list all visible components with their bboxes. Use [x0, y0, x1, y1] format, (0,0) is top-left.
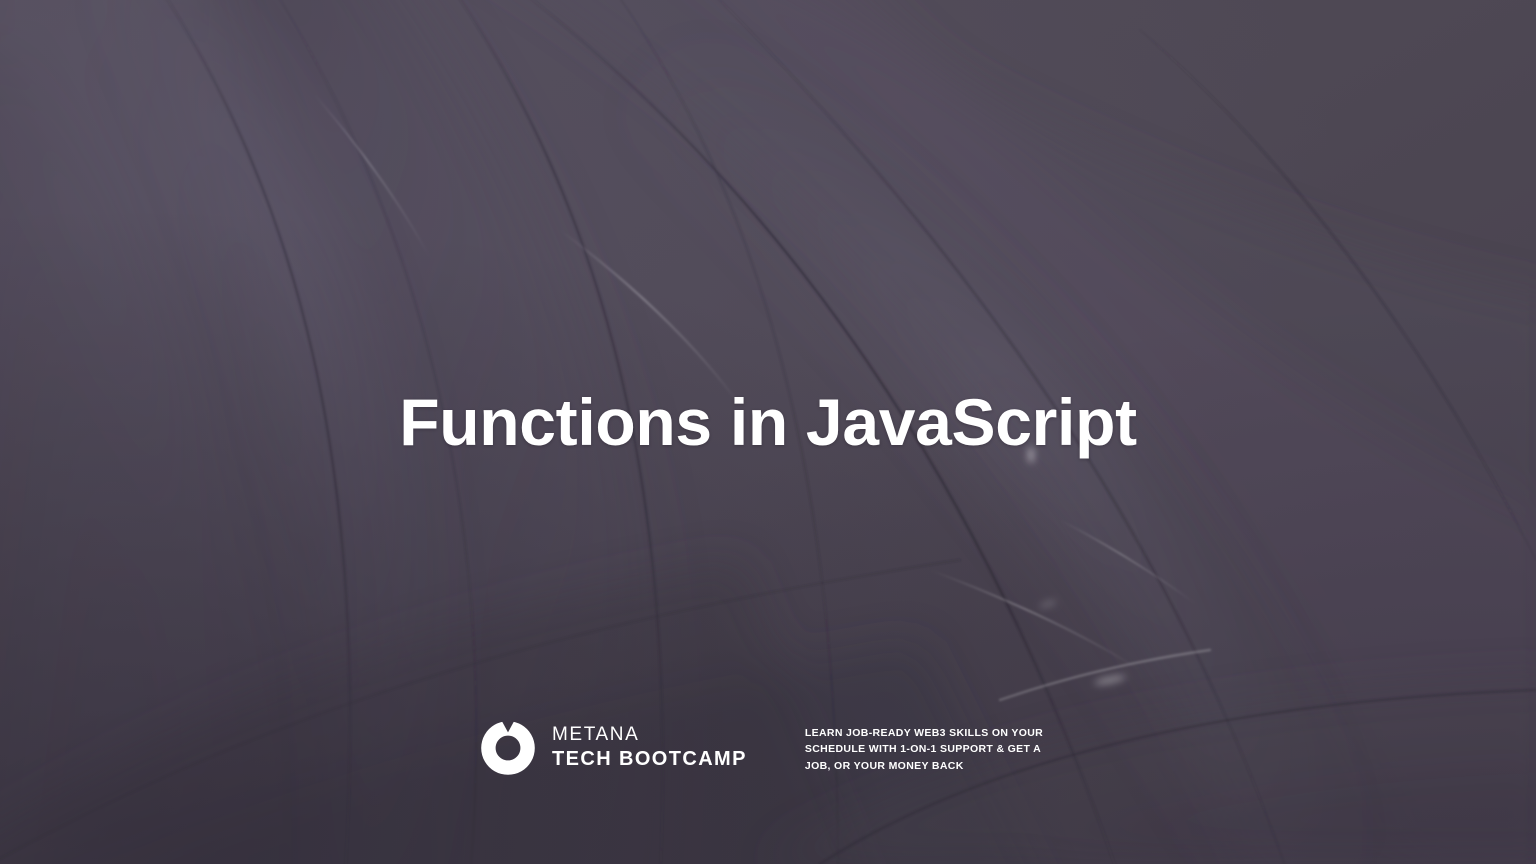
brand-tagline: LEARN JOB-READY WEB3 SKILLS ON YOUR SCHE…	[805, 716, 1043, 774]
tagline-line-2: SCHEDULE WITH 1-ON-1 SUPPORT & GET A	[805, 741, 1043, 757]
tagline-line-3: JOB, OR YOUR MONEY BACK	[805, 758, 1043, 774]
brand-words: METANA TECH BOOTCAMP	[552, 723, 747, 773]
metana-ring-notch-icon	[480, 720, 536, 776]
tagline-line-1: LEARN JOB-READY WEB3 SKILLS ON YOUR	[805, 725, 1043, 741]
brand-lockup: METANA TECH BOOTCAMP	[480, 716, 747, 776]
presentation-slide: Functions in JavaScript METANA TECH B	[0, 0, 1536, 864]
title-block: Functions in JavaScript	[0, 388, 1536, 457]
page-title: Functions in JavaScript	[399, 388, 1137, 457]
brand-name: METANA	[552, 723, 747, 747]
brand-subtitle: TECH BOOTCAMP	[552, 747, 747, 773]
slide-footer: METANA TECH BOOTCAMP LEARN JOB-READY WEB…	[480, 716, 1043, 776]
